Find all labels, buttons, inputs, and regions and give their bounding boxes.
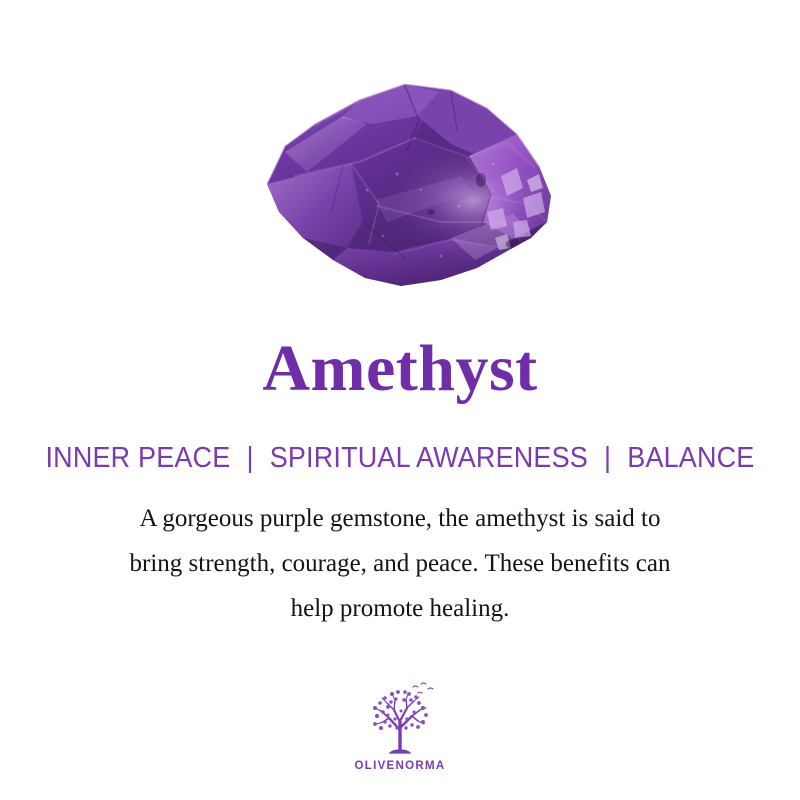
keyword-strip: INNER PEACE | SPIRITUAL AWARENESS | BALA… (28, 440, 772, 476)
keyword-separator: | (596, 440, 620, 476)
page-title: Amethyst (0, 332, 800, 406)
amethyst-crystal-illustration (255, 72, 565, 302)
description-line-3: help promote healing. (40, 586, 760, 631)
keyword-spiritual-awareness: SPIRITUAL AWARENESS (270, 442, 588, 474)
keyword-separator: | (238, 440, 262, 476)
brand-logo: OLIVENORMA (320, 678, 480, 772)
description-line-2: bring strength, courage, and peace. Thes… (40, 541, 760, 586)
amethyst-info-card: Amethyst INNER PEACE | SPIRITUAL AWARENE… (0, 0, 800, 800)
amethyst-crystal-image (255, 72, 565, 302)
hero-image-area (0, 60, 800, 320)
brand-wordmark: OLIVENORMA (320, 760, 480, 772)
keyword-inner-peace: INNER PEACE (45, 442, 230, 474)
tree-of-life-icon (361, 678, 439, 758)
keyword-balance: BALANCE (627, 442, 754, 474)
description-text: A gorgeous purple gemstone, the amethyst… (40, 496, 760, 631)
description-line-1: A gorgeous purple gemstone, the amethyst… (40, 496, 760, 541)
